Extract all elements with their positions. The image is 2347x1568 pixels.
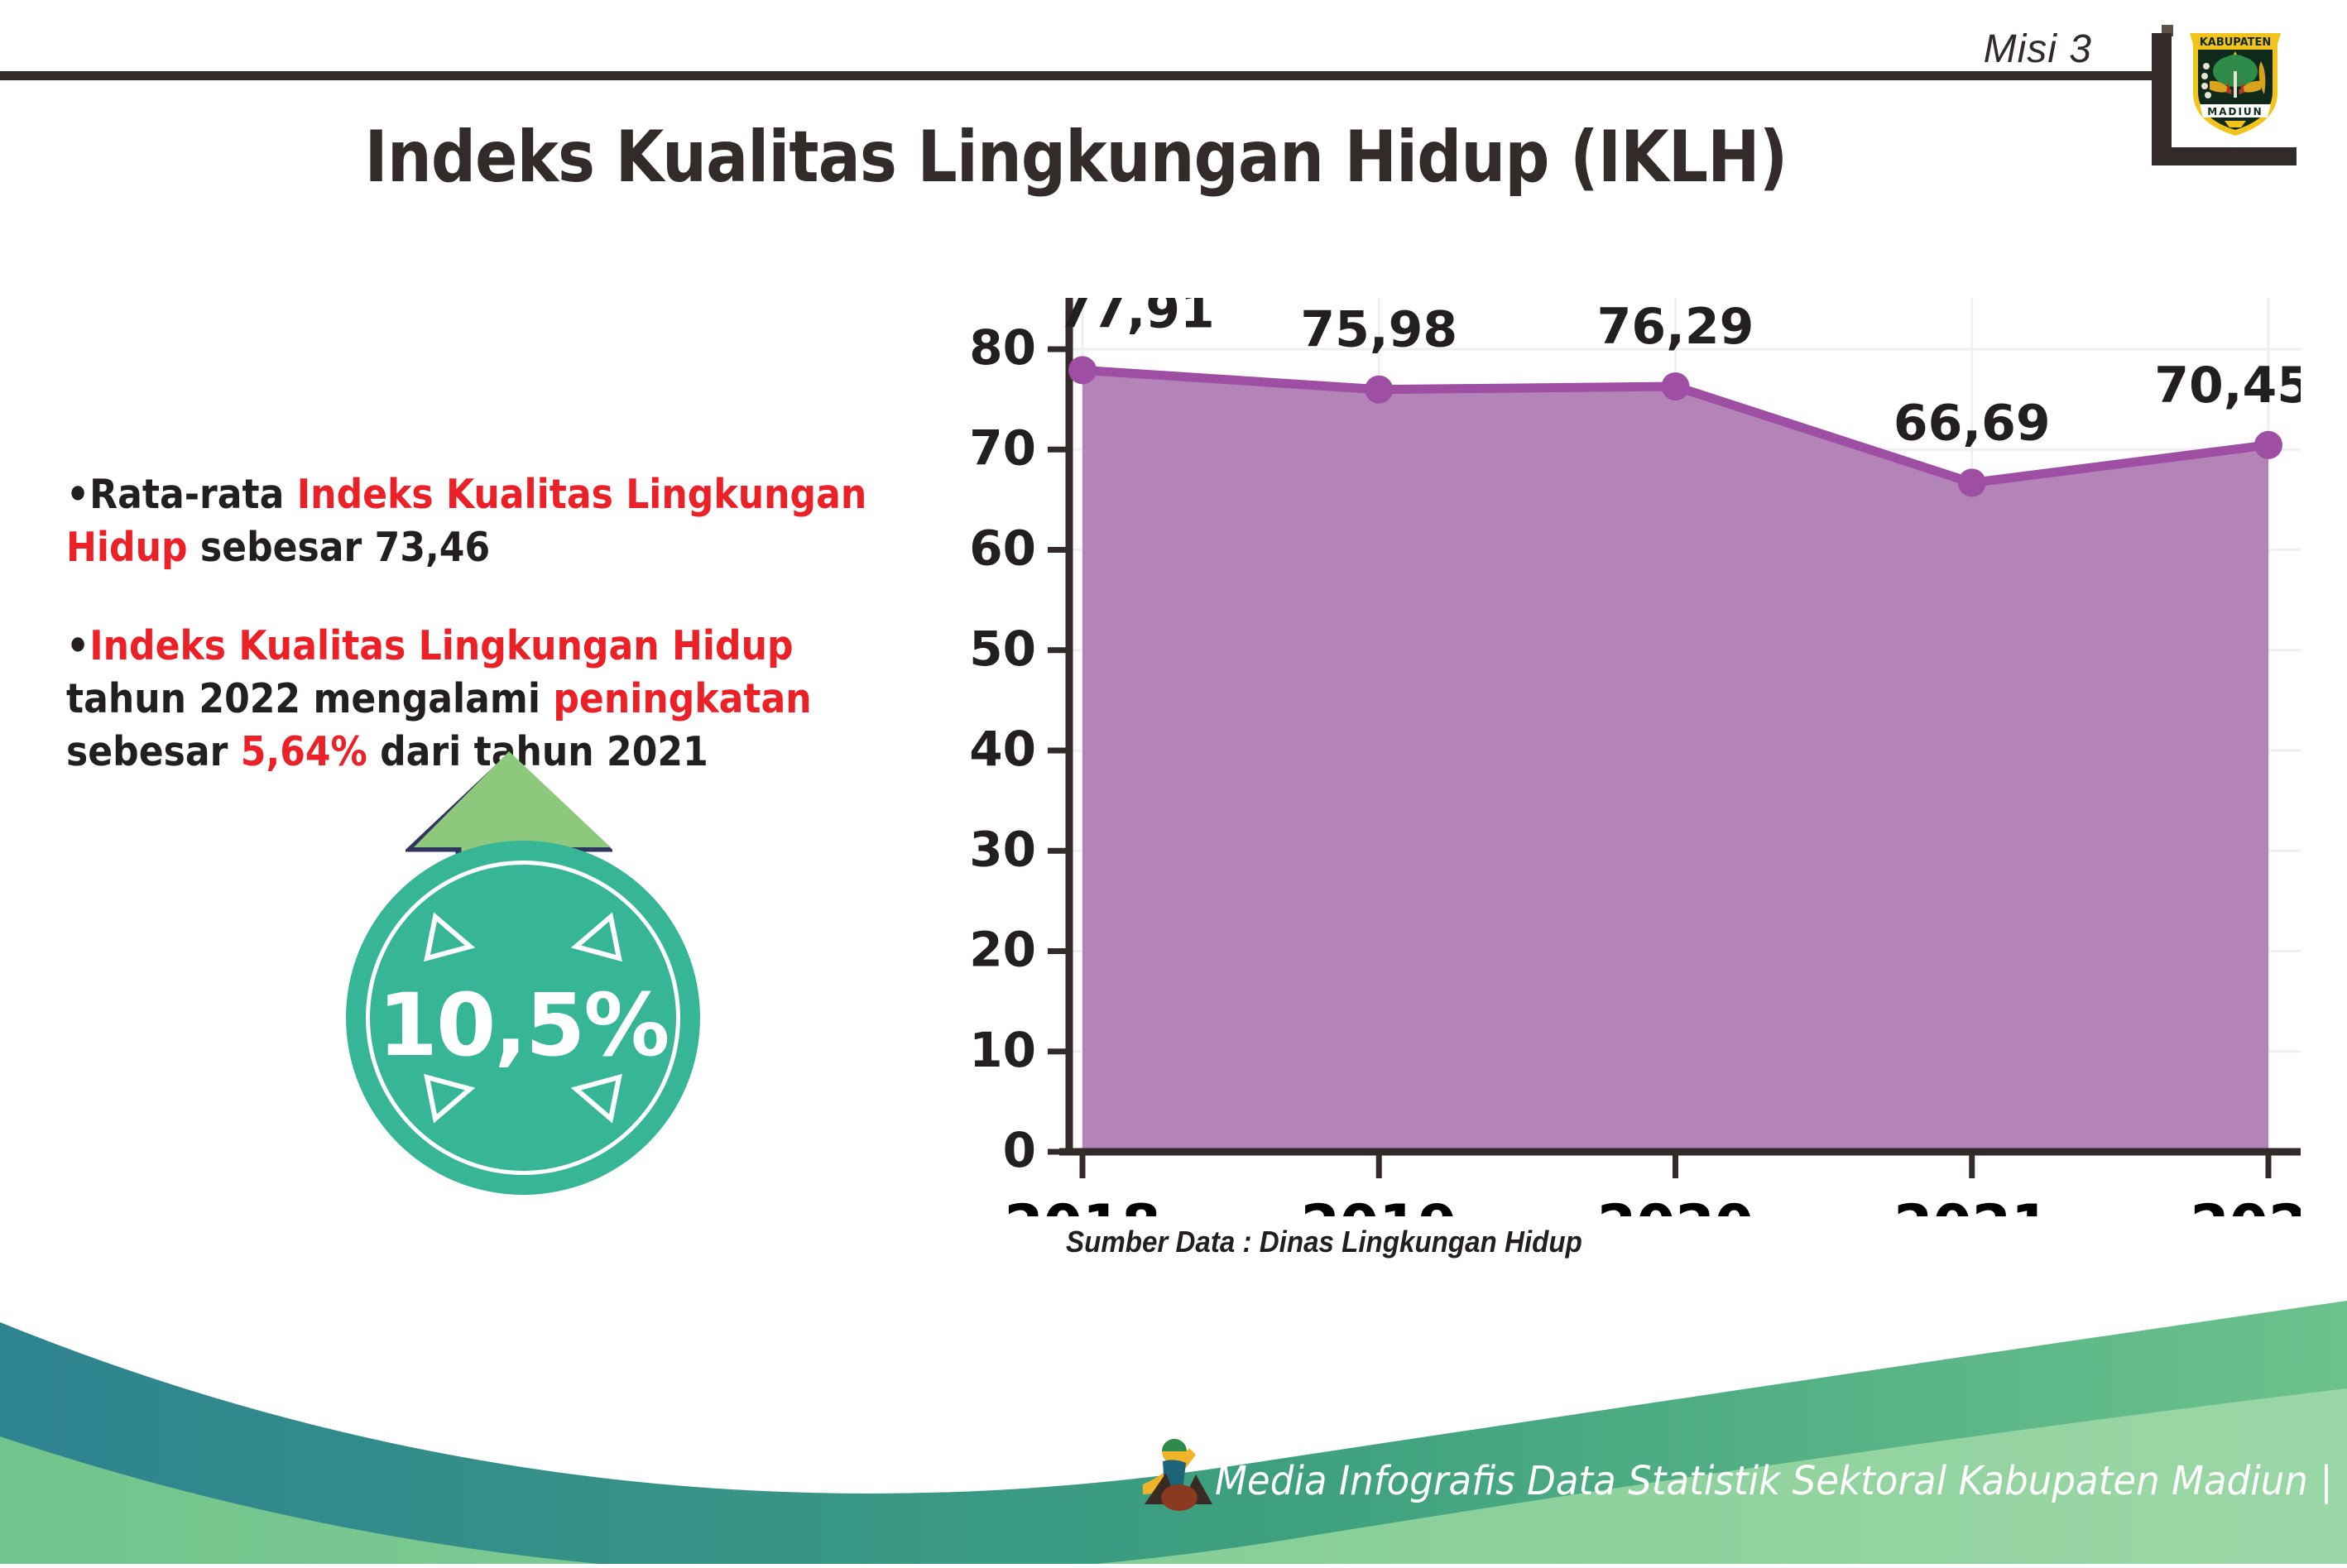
x-tick-label: 2020 [1597,1193,1754,1216]
y-tick-label: 60 [969,520,1036,577]
data-marker [1662,372,1690,400]
chart-x-tick-labels: 20182019202020212022 [1004,1193,2301,1216]
footer-band: Media Infografis Data Statistik Sektoral… [0,1291,2347,1564]
y-tick-label: 70 [969,420,1036,476]
page-title: Indeks Kualitas Lingkungan Hidup (IKLH) [129,116,2023,199]
logo-bracket-horizontal [2152,147,2297,165]
x-tick-label: 2021 [1893,1193,2050,1216]
y-tick-label: 0 [1003,1122,1036,1178]
data-marker [1068,356,1097,384]
bullet-1-part-4: sebesar [66,728,241,775]
data-marker [1365,376,1393,404]
area-fill [1082,370,2268,1152]
bullet-item-average: •Rata-rata Indeks Kualitas Lingkungan Hi… [66,468,908,573]
iklh-area-chart: 01020304050607080 20182019202020212022 7… [960,298,2301,1283]
data-marker [1958,468,1986,496]
y-tick-label: 40 [969,721,1036,777]
increase-badge: 10,5% [329,751,751,1190]
y-tick-label: 10 [969,1022,1036,1078]
x-tick-label: 2019 [1301,1193,1457,1216]
value-label: 66,69 [1893,394,2051,452]
logo-bottom-banner-text: MADIUN [2207,106,2263,117]
value-label: 76,29 [1597,298,1754,356]
kabupaten-madiun-logo-icon: KABUPATEN MADIUN [2185,22,2286,137]
bullet-0-part-2: sebesar 73,46 [188,524,491,571]
chart-area-series [1082,370,2268,1152]
value-label: 77,91 [1058,298,1215,339]
chart-canvas: 01020304050607080 20182019202020212022 7… [960,298,2301,1216]
footer-text: Media Infografis Data Statistik Sektoral… [1215,1458,2333,1504]
value-label: 75,98 [1300,301,1457,359]
statistics-figure-icon [1138,1433,1217,1531]
misi-label: Misi 3 [1984,26,2092,72]
badge-value: 10,5% [346,975,700,1076]
data-marker [2254,431,2282,459]
y-tick-label: 30 [969,821,1036,877]
bullet-1-part-1: Indeks Kualitas Lingkungan Hidup [89,622,793,669]
chart-x-ticks [1082,1152,2268,1178]
y-tick-label: 80 [969,319,1036,376]
x-tick-label: 2022 [2190,1193,2301,1216]
chart-y-tick-labels: 01020304050607080 [969,319,1036,1178]
logo-bracket-vertical [2152,33,2172,165]
value-label: 70,45 [2154,357,2301,415]
y-tick-label: 50 [969,621,1036,677]
logo-top-banner-text: KABUPATEN [2200,36,2272,49]
y-tick-label: 20 [969,922,1036,978]
bullet-1-part-3: peningkatan [553,675,811,722]
bullet-1-part-2: tahun 2022 mengalami [66,675,553,722]
x-tick-label: 2018 [1004,1193,1160,1216]
bullet-1-part-0: • [66,622,89,669]
header-divider-rule [0,71,2152,80]
bullet-0-part-0: •Rata-rata [66,471,297,518]
chart-source-note: Sumber Data : Dinas Lingkungan Hidup [1066,1225,1582,1259]
